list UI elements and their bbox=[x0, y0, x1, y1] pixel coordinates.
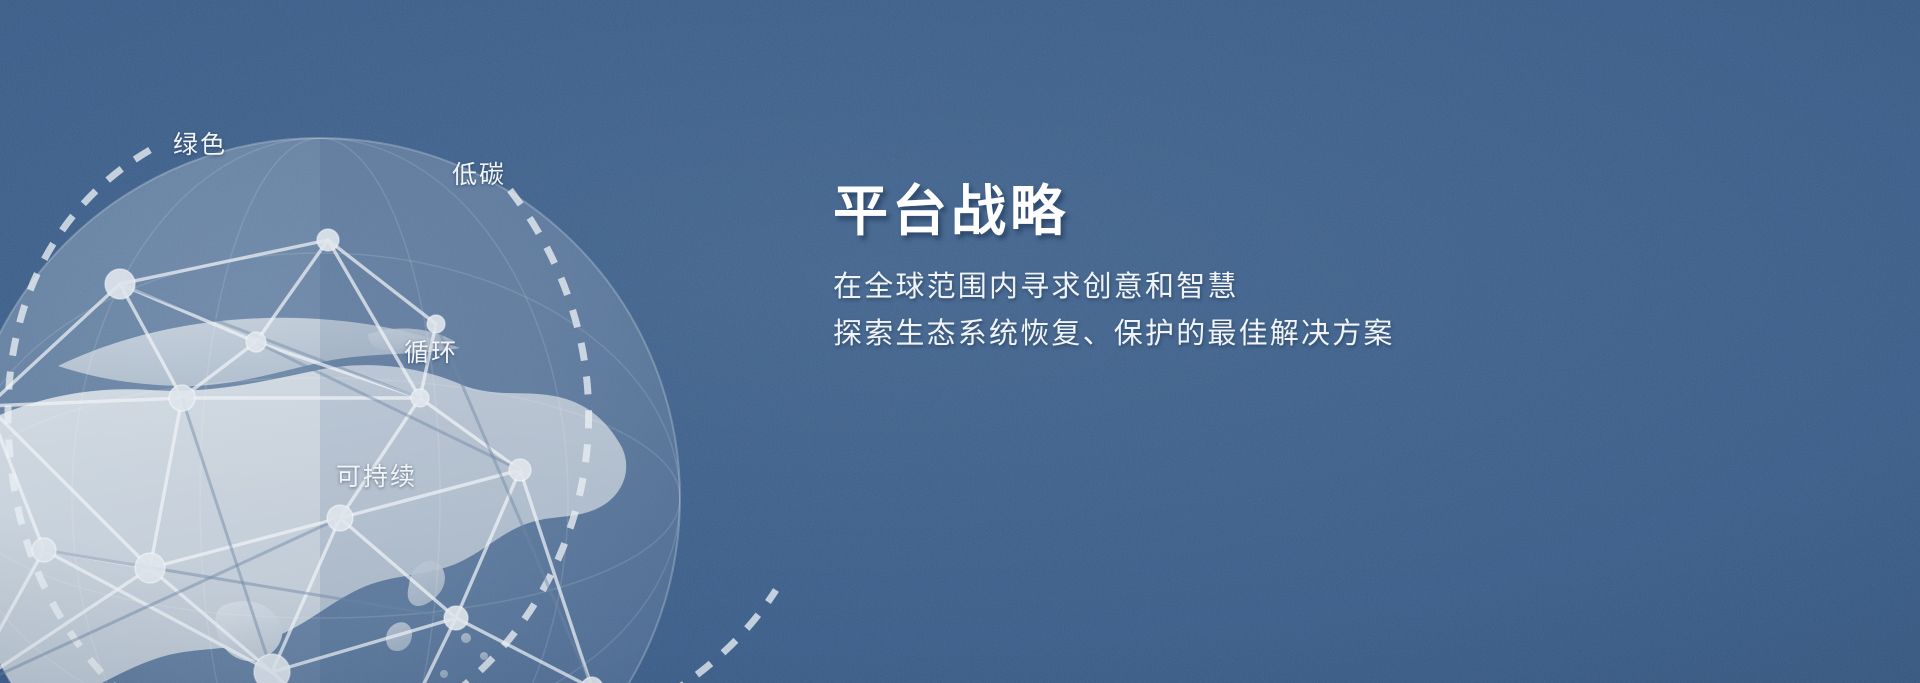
banner-subtitle-line-1: 在全球范围内寻求创意和智慧 bbox=[833, 264, 1593, 311]
keyword-label-sustainable: 可持续 bbox=[336, 457, 417, 493]
hero-banner: 绿色 低碳 循环 可持续 平台战略 在全球范围内寻求创意和智慧 探索生态系统恢复… bbox=[0, 0, 1920, 683]
banner-headline: 平台战略 bbox=[833, 182, 1593, 241]
keyword-label-circular: 循环 bbox=[404, 333, 458, 369]
keyword-label-green: 绿色 bbox=[173, 125, 227, 161]
banner-text-block: 平台战略 在全球范围内寻求创意和智慧 探索生态系统恢复、保护的最佳解决方案 bbox=[833, 182, 1593, 358]
banner-subtitle-line-2: 探索生态系统恢复、保护的最佳解决方案 bbox=[833, 311, 1593, 358]
globe-network-illustration bbox=[0, 98, 820, 683]
keyword-label-low-carbon: 低碳 bbox=[452, 155, 506, 191]
